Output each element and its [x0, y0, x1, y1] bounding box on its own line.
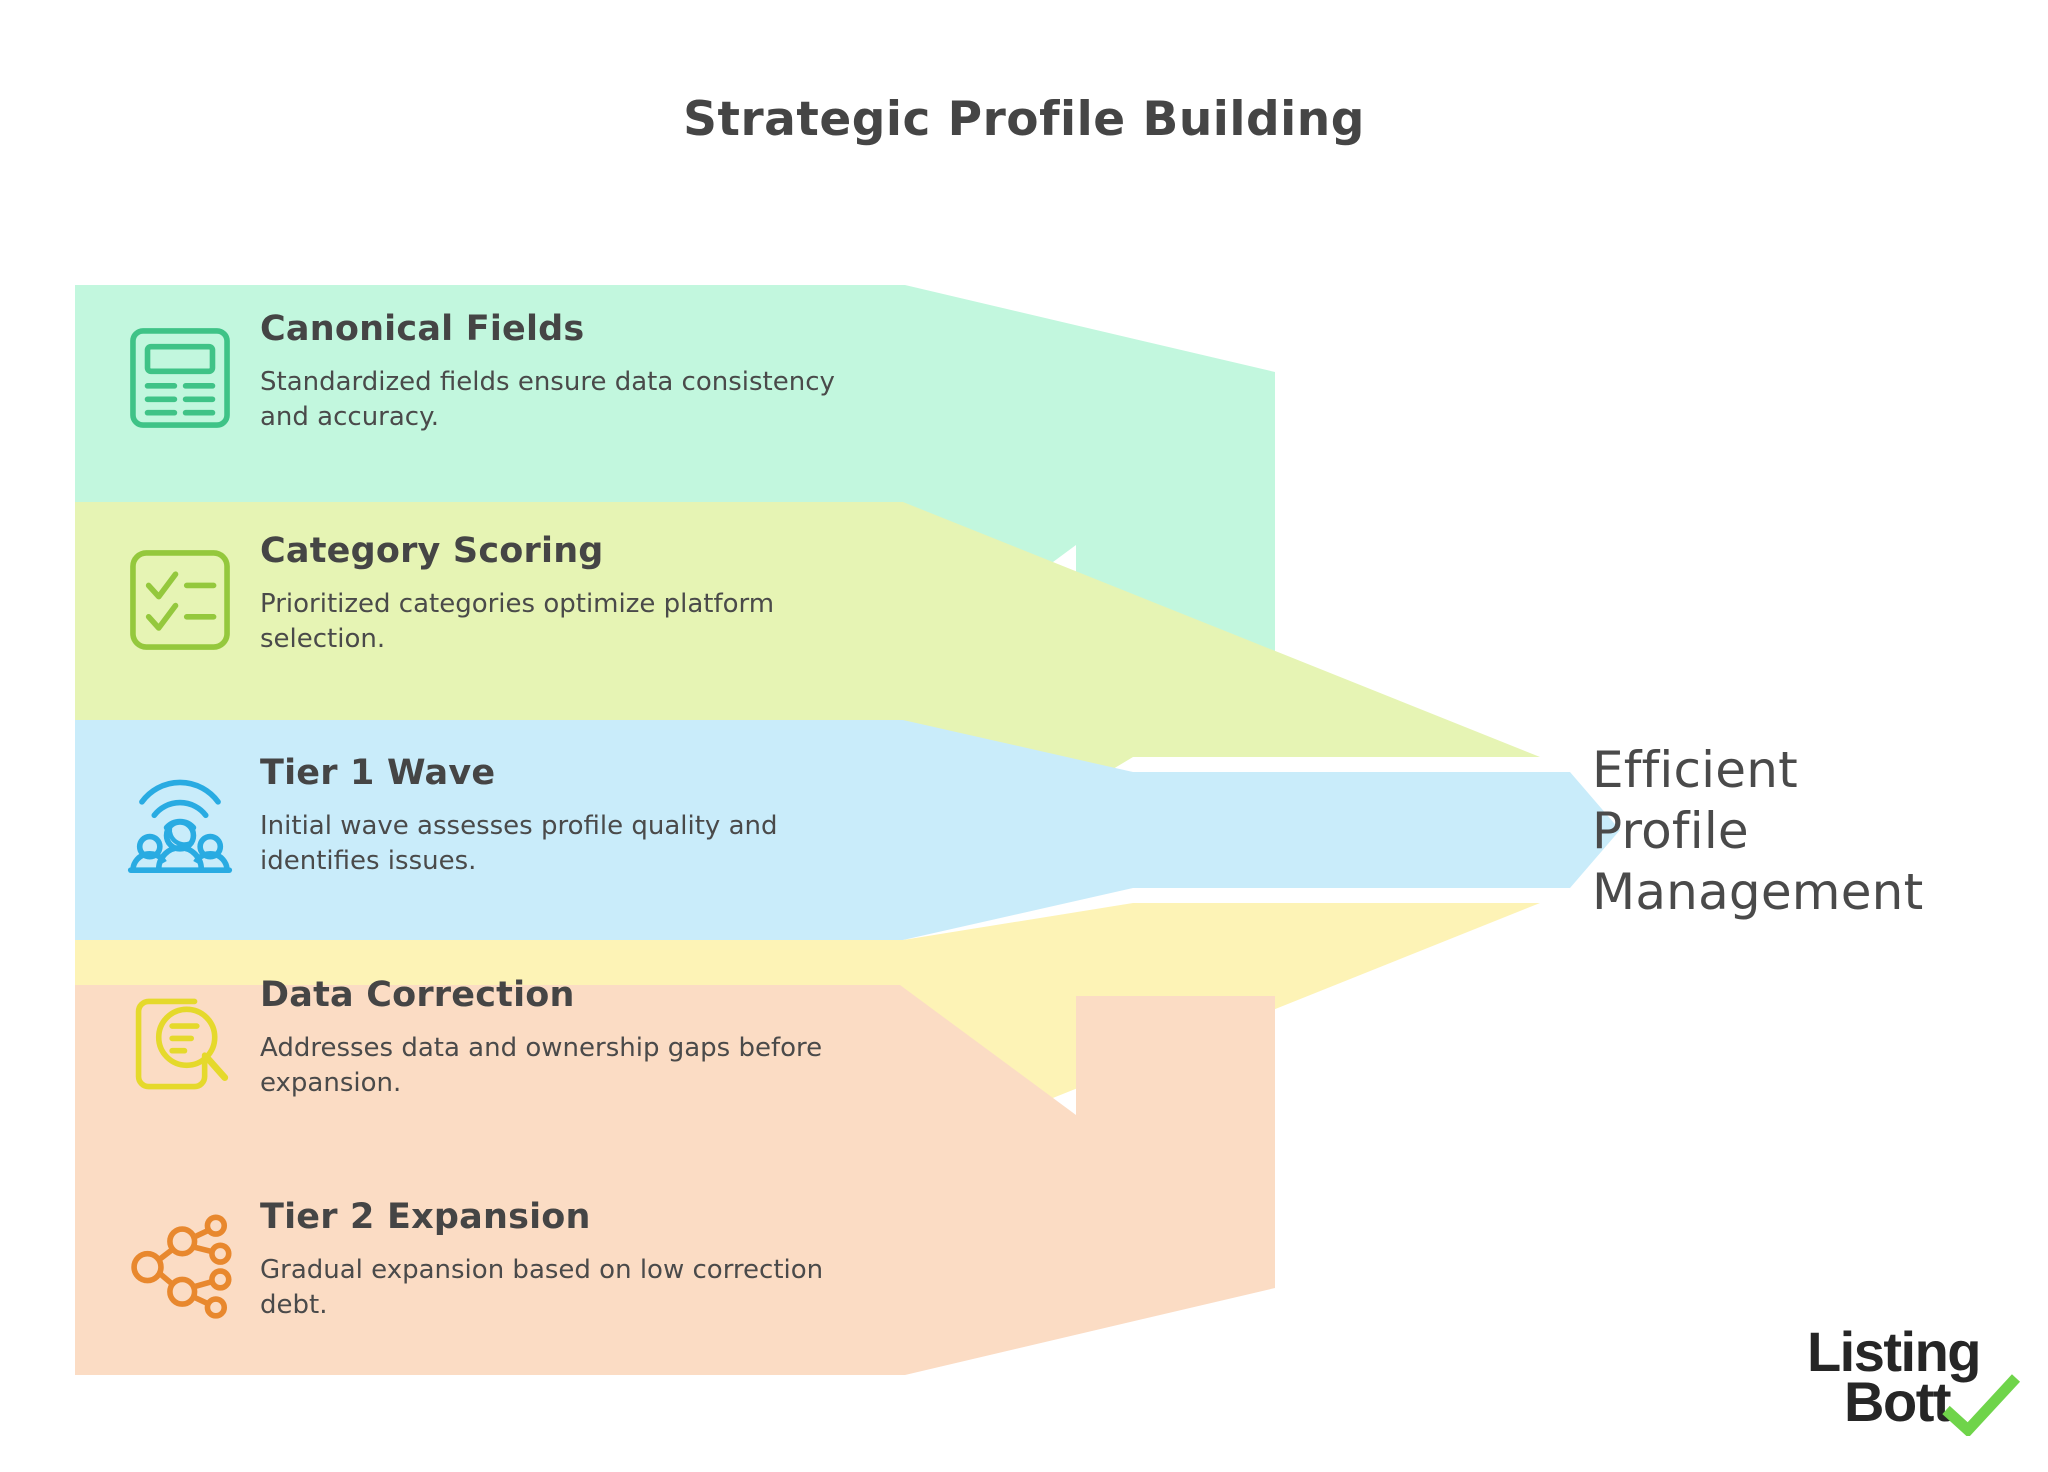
stage-text-block: Tier 1 Wave Initial wave assesses profil… [260, 744, 840, 879]
infographic-canvas: Strategic Profile Building Canonical Fie… [0, 0, 2048, 1472]
network-branch-icon [124, 1210, 236, 1322]
stage-text-block: Canonical Fields Standardized fields ens… [260, 300, 840, 435]
stage-title: Tier 2 Expansion [260, 1198, 840, 1237]
document-search-icon [124, 988, 236, 1100]
document-fields-icon [124, 322, 236, 434]
stage-text-block: Data Correction Addresses data and owner… [260, 966, 840, 1101]
stage-row-tier-2-expansion: Tier 2 Expansion Gradual expansion based… [110, 1188, 840, 1388]
stage-description: Prioritized categories optimize platform… [260, 587, 840, 658]
page-title: Strategic Profile Building [0, 92, 2048, 147]
stage-description: Standardized fields ensure data consiste… [260, 365, 840, 436]
green-checkmark-icon [1940, 1374, 2022, 1436]
stage-description: Gradual expansion based on low correctio… [260, 1253, 840, 1324]
stage-text-block: Tier 2 Expansion Gradual expansion based… [260, 1188, 840, 1323]
stage-text-block: Category Scoring Prioritized categories … [260, 522, 840, 657]
logo-word-bott: Bott [1844, 1376, 1950, 1428]
checklist-icon [124, 544, 236, 656]
stage-title: Tier 1 Wave [260, 754, 840, 793]
outcome-line-3: Management [1592, 862, 2022, 923]
stage-row-data-correction: Data Correction Addresses data and owner… [110, 966, 840, 1166]
stage-description: Addresses data and ownership gaps before… [260, 1031, 840, 1102]
listing-bott-logo: Listing Bott [1762, 1326, 2022, 1444]
stage-description: Initial wave assesses profile quality an… [260, 809, 840, 880]
broadcast-group-icon [124, 766, 236, 878]
stage-title: Data Correction [260, 976, 840, 1015]
stage-title: Category Scoring [260, 532, 840, 571]
outcome-line-2: Profile [1592, 801, 2022, 862]
stage-row-canonical-fields: Canonical Fields Standardized fields ens… [110, 300, 840, 500]
stage-row-tier-1-wave: Tier 1 Wave Initial wave assesses profil… [110, 744, 840, 944]
stage-row-category-scoring: Category Scoring Prioritized categories … [110, 522, 840, 722]
outcome-line-1: Efficient [1592, 740, 2022, 801]
stage-title: Canonical Fields [260, 310, 840, 349]
outcome-label: Efficient Profile Management [1592, 740, 2022, 923]
